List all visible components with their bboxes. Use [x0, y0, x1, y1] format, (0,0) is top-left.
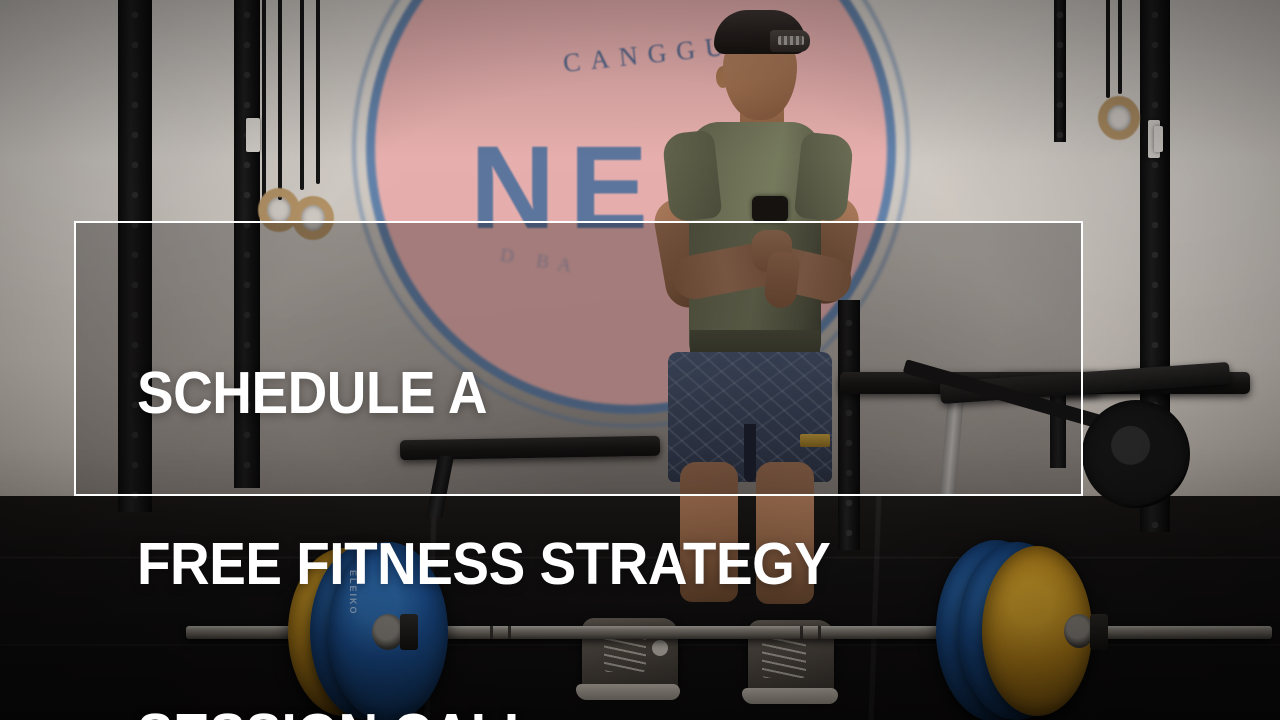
headline-line-3: SESSION CALL	[137, 707, 974, 720]
athlete-left-sleeve	[662, 130, 723, 223]
headline-line-2: FREE FITNESS STRATEGY	[137, 536, 974, 593]
headline-text: SCHEDULE A FREE FITNESS STRATEGY SESSION…	[137, 251, 974, 720]
headline-line-1: SCHEDULE A	[137, 365, 974, 422]
barbell-collar-right	[1090, 614, 1108, 650]
athlete-cap-snapback	[778, 36, 804, 45]
wristwatch	[752, 196, 788, 222]
athlete-right-sleeve	[794, 132, 855, 223]
hero-banner: CANGGU NE D BA	[0, 0, 1280, 720]
